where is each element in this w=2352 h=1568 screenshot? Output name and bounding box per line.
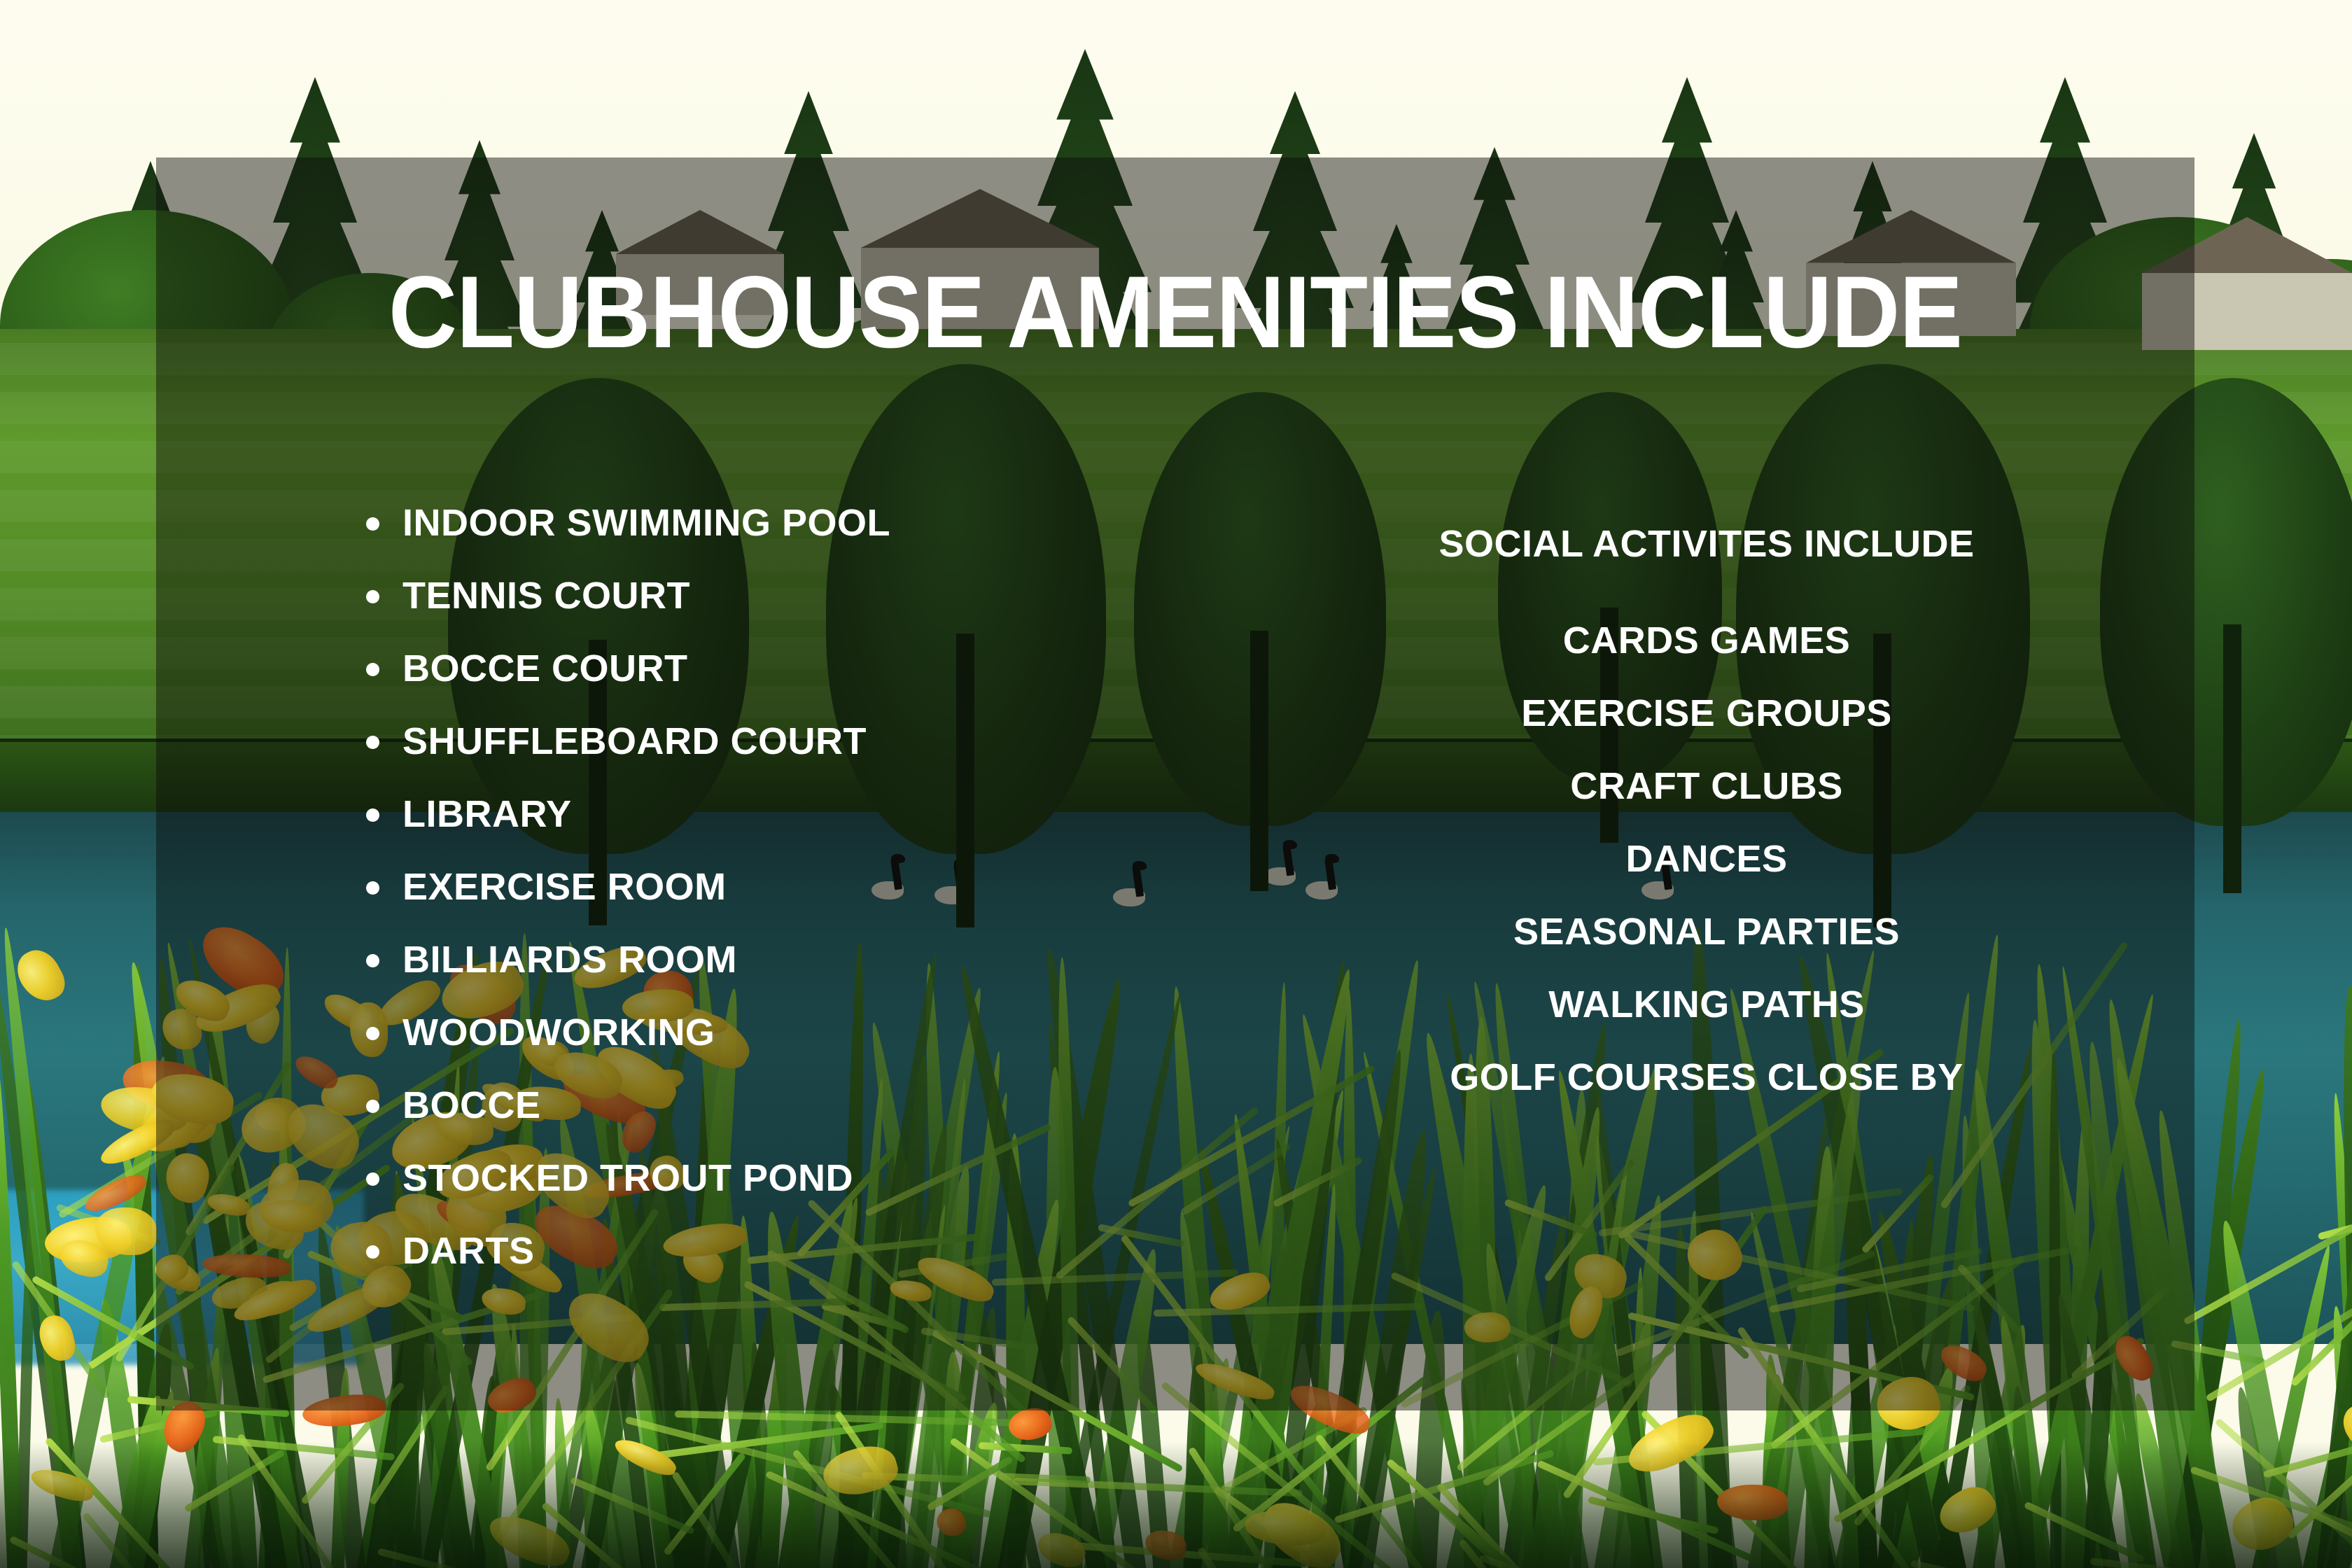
list-item: GOLF COURSES CLOSE BY: [1276, 1041, 2137, 1114]
spacer: [1276, 580, 2137, 604]
list-item: CARDS GAMES: [1276, 604, 2137, 677]
list-item: EXERCISE ROOM: [366, 850, 1192, 923]
amenities-list: INDOOR SWIMMING POOL TENNIS COURT BOCCE …: [366, 486, 1192, 1287]
content-overlay-panel: CLUBHOUSE AMENITIES INCLUDE INDOOR SWIMM…: [156, 157, 2194, 1410]
list-item: EXERCISE GROUPS: [1276, 677, 2137, 750]
list-item: BILLIARDS ROOM: [366, 923, 1192, 996]
list-item: STOCKED TROUT POND: [366, 1142, 1192, 1214]
tree-trunk: [2223, 624, 2241, 893]
foreground-shadow: [0, 1442, 2352, 1568]
list-item: CRAFT CLUBS: [1276, 750, 2137, 822]
slide-canvas: CLUBHOUSE AMENITIES INCLUDE INDOOR SWIMM…: [0, 0, 2352, 1568]
list-item: SHUFFLEBOARD COURT: [366, 705, 1192, 778]
list-item: BOCCE: [366, 1069, 1192, 1142]
list-item: DANCES: [1276, 822, 2137, 895]
social-activities-heading: SOCIAL ACTIVITES INCLUDE: [1276, 507, 2137, 580]
list-item: TENNIS COURT: [366, 559, 1192, 632]
list-item: INDOOR SWIMMING POOL: [366, 486, 1192, 559]
list-item: DARTS: [366, 1214, 1192, 1287]
list-item: SEASONAL PARTIES: [1276, 895, 2137, 968]
list-item: WALKING PATHS: [1276, 968, 2137, 1041]
social-activities-list: SOCIAL ACTIVITES INCLUDE CARDS GAMES EXE…: [1276, 507, 2137, 1114]
iris-flower: [10, 943, 71, 1009]
list-item: BOCCE COURT: [366, 632, 1192, 705]
list-item: LIBRARY: [366, 778, 1192, 850]
list-item: WOODWORKING: [366, 996, 1192, 1069]
page-title: CLUBHOUSE AMENITIES INCLUDE: [227, 261, 2123, 363]
